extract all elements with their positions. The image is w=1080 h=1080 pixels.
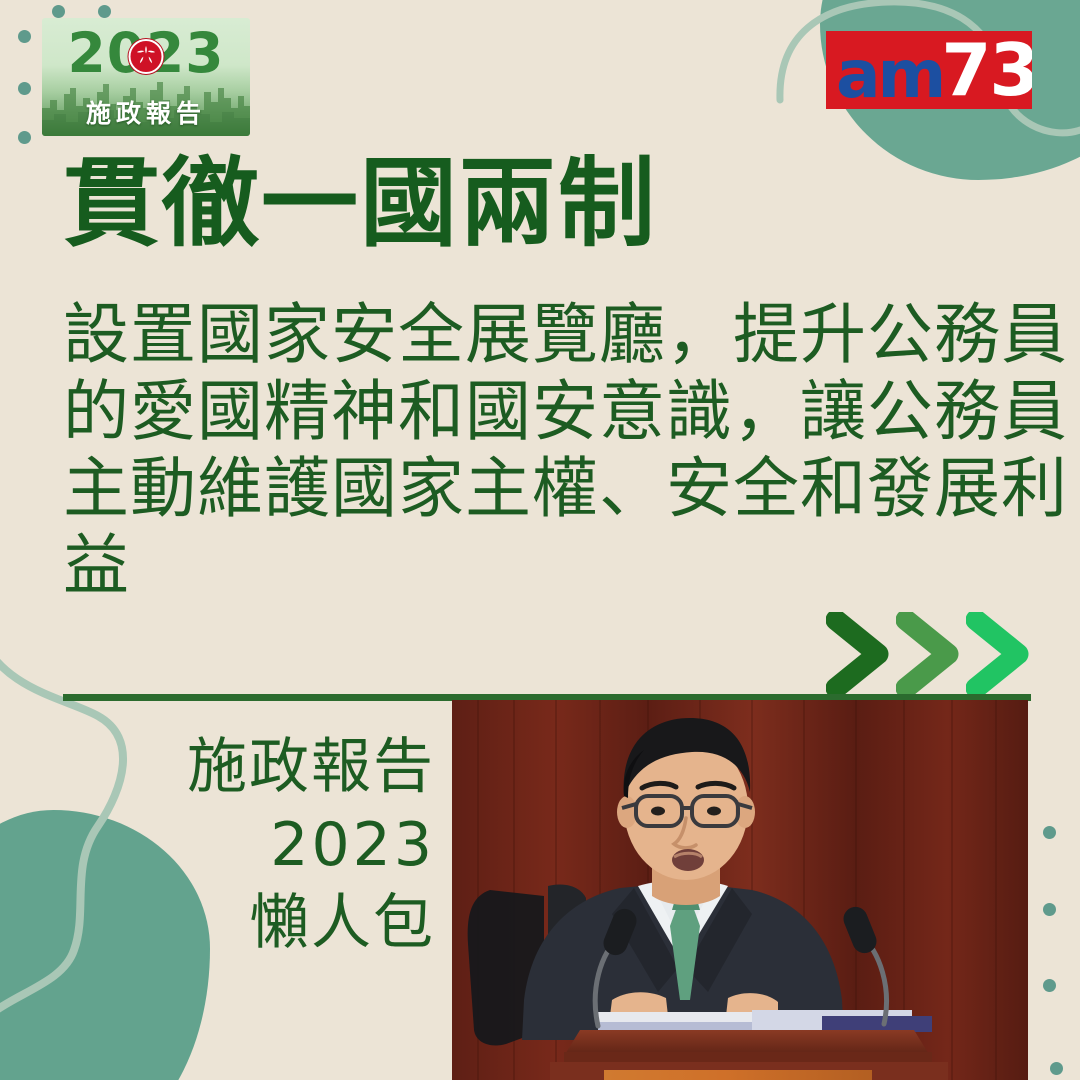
decor-dot bbox=[98, 5, 111, 18]
decor-dot bbox=[1050, 1062, 1063, 1075]
body-text-line: 設置國家安全展覽廳，提升公務員 bbox=[63, 296, 1013, 373]
body-text: 設置國家安全展覽廳，提升公務員 的愛國精神和國安意識，讓公務員 主動維護國家主權… bbox=[63, 296, 1013, 604]
decor-dot bbox=[1043, 826, 1056, 839]
decor-dot bbox=[18, 30, 31, 43]
series-caption: 施政報告 2023 懶人包 bbox=[110, 728, 435, 962]
am730-logo[interactable]: am 730 bbox=[826, 31, 1032, 109]
hong-kong-bauhinia-emblem bbox=[129, 39, 164, 74]
body-text-line: 的愛國精神和國安意識，讓公務員 bbox=[63, 373, 1013, 450]
infographic-card: 2023 施政報告 am 730 貫徹一國兩制 設置國家安全展覽廳，提升公務員 … bbox=[0, 0, 1080, 1080]
chevron-right-icon[interactable] bbox=[826, 612, 892, 696]
series-caption-line2: 2023 bbox=[110, 806, 435, 884]
decor-dot bbox=[1043, 979, 1056, 992]
am730-logo-number: 730 bbox=[941, 35, 1032, 105]
series-caption-line1: 施政報告 bbox=[110, 728, 435, 806]
badge-subtitle: 施政報告 bbox=[42, 98, 250, 131]
next-arrows[interactable] bbox=[826, 612, 1038, 696]
decor-dot bbox=[18, 131, 31, 144]
chevron-right-icon[interactable] bbox=[966, 612, 1032, 696]
page-title: 貫徹一國兩制 bbox=[63, 152, 1003, 256]
body-text-line: 主動維護國家主權、安全和發展利 bbox=[63, 450, 1013, 527]
decor-dot bbox=[18, 82, 31, 95]
body-text-line: 益 bbox=[63, 527, 1013, 604]
chief-executive-podium-photo bbox=[452, 700, 1028, 1080]
series-caption-line3: 懶人包 bbox=[110, 884, 435, 962]
am730-logo-prefix: am bbox=[826, 43, 943, 107]
chevron-right-icon[interactable] bbox=[896, 612, 962, 696]
photo-illustration bbox=[452, 700, 1028, 1080]
decor-dot bbox=[1043, 903, 1056, 916]
decor-dot bbox=[52, 5, 65, 18]
policy-address-2023-badge: 2023 施政報告 bbox=[42, 18, 250, 136]
